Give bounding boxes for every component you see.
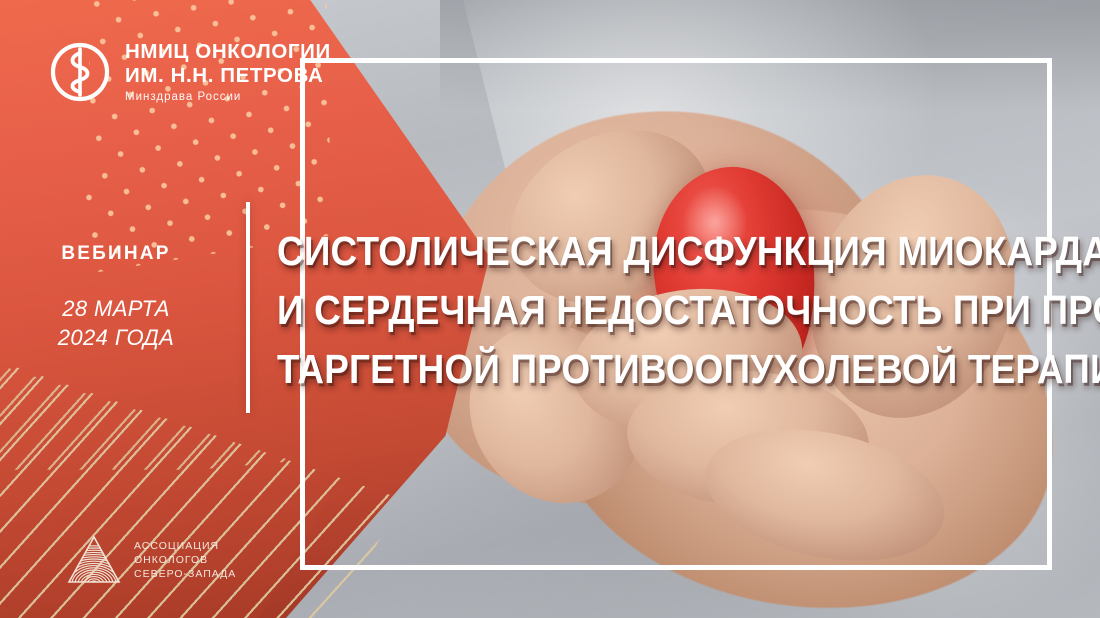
association-line3: СЕВЕРО-ЗАПАДА [134,567,236,581]
asclepius-staff-circle-icon [48,40,112,104]
webinar-kicker-label: ВЕБИНАР [0,243,232,265]
association-logo: АССОЦИАЦИЯ ОНКОЛОГОВ СЕВЕРО-ЗАПАДА [66,534,236,586]
webinar-date: 28 МАРТА 2024 ГОДА [0,295,232,352]
institute-name-line1: НМИЦ ОНКОЛОГИИ [125,40,331,63]
striped-triangle-icon [66,534,122,586]
poster-title-line1: СИСТОЛИЧЕСКАЯ ДИСФУНКЦИЯ МИОКАРДА [277,222,961,281]
association-logo-text: АССОЦИАЦИЯ ОНКОЛОГОВ СЕВЕРО-ЗАПАДА [134,539,236,582]
institute-brand-text: НМИЦ ОНКОЛОГИИ ИМ. Н.Н. ПЕТРОВА Минздрав… [125,40,331,103]
webinar-meta-block: ВЕБИНАР 28 МАРТА 2024 ГОДА [0,243,232,352]
poster-title-line3: ТАРГЕТНОЙ ПРОТИВООПУХОЛЕВОЙ ТЕРАПИИ [277,340,961,399]
poster-title-line2: И СЕРДЕЧНАЯ НЕДОСТАТОЧНОСТЬ ПРИ ПРОВЕДЕН… [277,281,961,340]
institute-name-line2: ИМ. Н.Н. ПЕТРОВА [125,64,331,87]
association-line1: АССОЦИАЦИЯ [134,539,236,553]
institute-ministry-line: Минздрава России [125,91,331,104]
poster-title: СИСТОЛИЧЕСКАЯ ДИСФУНКЦИЯ МИОКАРДА И СЕРД… [277,222,961,399]
webinar-date-line1: 28 МАРТА [0,295,232,324]
webinar-date-line2: 2024 ГОДА [0,324,232,353]
webinar-announcement-poster: НМИЦ ОНКОЛОГИИ ИМ. Н.Н. ПЕТРОВА Минздрав… [0,0,1100,618]
institute-brand: НМИЦ ОНКОЛОГИИ ИМ. Н.Н. ПЕТРОВА Минздрав… [48,40,331,104]
vertical-divider-rule [246,202,250,413]
association-line2: ОНКОЛОГОВ [134,553,236,567]
